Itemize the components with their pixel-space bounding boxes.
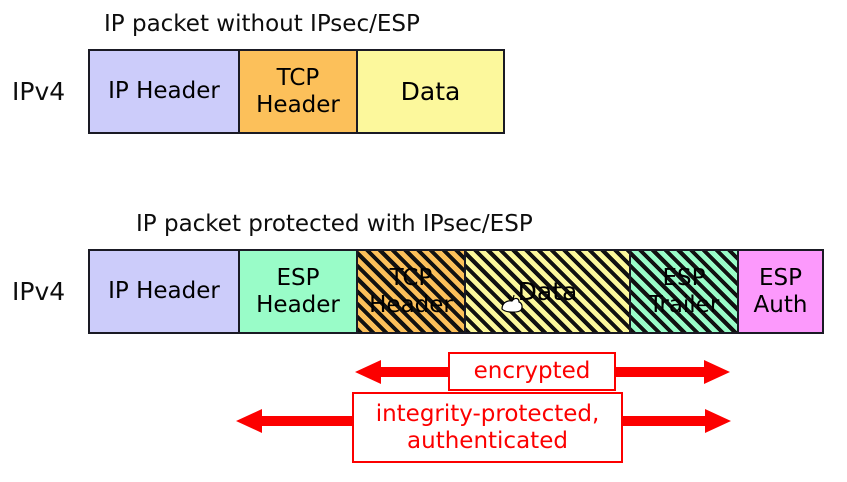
packet-row-plain: IP Header TCP Header Data [88,49,505,134]
field-label-esp-auth: ESP Auth [752,265,810,319]
field-label-ip-header-esp: IP Header [106,278,222,305]
field-esp-trailer[interactable]: ESP Trailer [631,251,739,332]
field-label-ip-header-plain: IP Header [106,78,222,105]
field-tcp-header-plain[interactable]: TCP Header [240,51,358,132]
row-label-ipv4-esp: IPv4 [12,277,65,307]
diagram-title-esp: IP packet protected with IPsec/ESP [136,210,533,238]
field-label-esp-header: ESP Header [254,265,342,319]
diagram-canvas: IP packet without IPsec/ESP IPv4 IP Head… [0,0,847,482]
field-data-esp[interactable]: Data [466,251,631,332]
annotation-label-encrypted[interactable]: encrypted [448,352,616,391]
arrow-left-icon-encrypted [355,358,455,386]
field-esp-header[interactable]: ESP Header [240,251,358,332]
field-ip-header-plain[interactable]: IP Header [90,51,240,132]
arrow-right-icon-integrity [619,407,731,435]
field-label-esp-trailer: ESP Trailer [647,265,722,319]
field-label-data-plain: Data [399,78,463,105]
field-esp-auth[interactable]: ESP Auth [739,251,822,332]
arrow-left-icon-integrity [236,407,356,435]
annotation-label-integrity[interactable]: integrity-protected, authenticated [352,392,623,463]
field-label-data-esp: Data [516,278,580,305]
field-label-tcp-header-esp: TCP Header [367,265,455,319]
field-label-tcp-header-plain: TCP Header [254,65,342,119]
field-data-plain[interactable]: Data [358,51,503,132]
arrow-right-icon-encrypted [612,358,730,386]
packet-row-esp: IP Header ESP Header TCP Header Data ESP… [88,249,824,334]
field-ip-header-esp[interactable]: IP Header [90,251,240,332]
row-label-ipv4-plain: IPv4 [12,77,65,107]
annotation-text-integrity: integrity-protected, authenticated [376,401,600,455]
field-tcp-header-esp[interactable]: TCP Header [358,251,466,332]
annotation-text-encrypted: encrypted [474,358,591,385]
diagram-title-plain: IP packet without IPsec/ESP [104,10,420,38]
